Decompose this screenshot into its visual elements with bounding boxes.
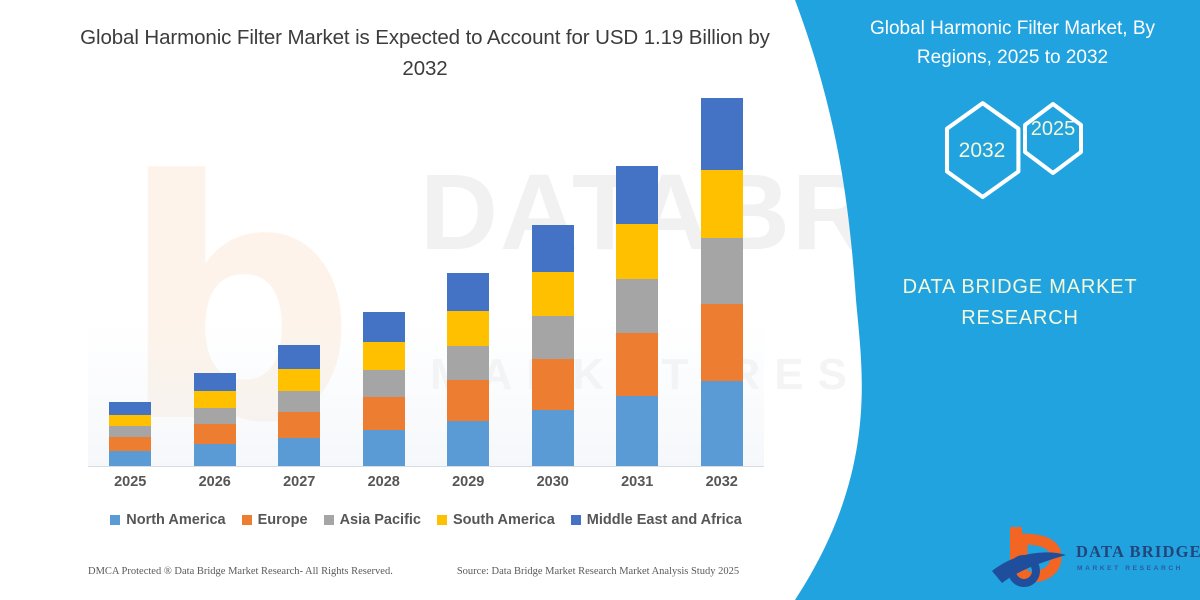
bar-segment [447,380,489,421]
stacked-bar-2029 [447,273,489,466]
bar-segment [109,437,151,451]
footer-copyright: DMCA Protected ® Data Bridge Market Rese… [88,566,393,577]
hexagon-2032: 2032 [947,103,1018,197]
infographic-root: b DATABRIDGE MARKET RESEARCH Global Harm… [0,0,1200,600]
bar-segment [194,424,236,444]
brand-line-1: DATA BRIDGE MARKET [860,272,1180,303]
bar-segment [616,333,658,396]
legend-item[interactable]: Asia Pacific [324,512,421,528]
x-axis-tick: 2029 [426,474,511,490]
stacked-bar-2027 [278,345,320,466]
bar-segment [278,345,320,369]
bar-segment [532,410,574,466]
bar-segment [109,426,151,437]
bar-segment [447,346,489,380]
bar-segment [701,98,743,170]
legend-swatch-icon [571,515,581,525]
bar-segment [278,391,320,412]
x-axis-tick: 2031 [595,474,680,490]
right-panel: Global Harmonic Filter Market, By Region… [800,0,1200,600]
bar-segment [447,421,489,466]
bar-column [88,140,173,466]
bar-segment [194,408,236,424]
logo-subtitle: MARKET RESEARCH [1077,565,1183,572]
bar-segment [532,359,574,410]
legend-label: Middle East and Africa [587,512,742,528]
bar-segment [616,396,658,466]
stacked-bar-group [88,140,764,466]
x-axis-tick: 2030 [511,474,596,490]
bar-column [173,140,258,466]
legend-item[interactable]: Europe [242,512,308,528]
legend-swatch-icon [324,515,334,525]
bar-segment [109,415,151,426]
bar-column [426,140,511,466]
bar-segment [701,170,743,238]
chart-panel: b DATABRIDGE MARKET RESEARCH Global Harm… [0,0,800,600]
x-axis-labels: 20252026202720282029203020312032 [88,474,764,490]
bar-segment [616,224,658,279]
hexagon-2025-label: 2025 [1031,118,1076,140]
bar-segment [447,273,489,311]
panel-title: Global Harmonic Filter Market, By Region… [840,14,1185,72]
bar-segment [278,438,320,466]
bar-column [342,140,427,466]
stacked-bar-2026 [194,373,236,466]
legend-label: Asia Pacific [340,512,421,528]
legend-item[interactable]: South America [437,512,555,528]
bar-segment [532,316,574,359]
bar-column [257,140,342,466]
stacked-bar-2032 [701,98,743,466]
legend-label: South America [453,512,555,528]
bar-segment [194,391,236,408]
x-axis-tick: 2028 [342,474,427,490]
legend-label: Europe [258,512,308,528]
bar-segment [278,369,320,391]
bar-segment [701,381,743,466]
bar-segment [363,312,405,342]
legend-swatch-icon [437,515,447,525]
bar-column [680,140,765,466]
x-axis-tick: 2027 [257,474,342,490]
x-axis-line [88,466,764,467]
bar-segment [363,342,405,370]
logo-title: DATA BRIDGE [1076,542,1200,561]
stacked-bar-2025 [109,402,151,466]
x-axis-tick: 2032 [680,474,765,490]
x-axis-tick: 2025 [88,474,173,490]
stacked-bar-2031 [616,166,658,466]
legend-item[interactable]: North America [110,512,225,528]
brand-line-2: RESEARCH [860,303,1180,334]
bar-segment [616,279,658,333]
x-axis-tick: 2026 [173,474,258,490]
logo-container: DATA BRIDGE MARKET RESEARCH [980,515,1200,600]
bar-segment [363,370,405,397]
stacked-bar-2030 [532,225,574,466]
bar-segment [701,304,743,381]
bar-segment [278,412,320,438]
legend-swatch-icon [242,515,252,525]
bar-column [595,140,680,466]
chart-legend: North AmericaEuropeAsia PacificSouth Ame… [88,512,764,528]
bar-segment [194,444,236,466]
hexagon-2025: 2025 [1025,104,1081,173]
legend-label: North America [126,512,225,528]
bar-segment [701,238,743,304]
bar-segment [194,373,236,391]
legend-item[interactable]: Middle East and Africa [571,512,742,528]
footer: DMCA Protected ® Data Bridge Market Rese… [88,566,778,577]
bar-segment [532,225,574,272]
footer-source: Source: Data Bridge Market Research Mark… [457,566,739,577]
legend-swatch-icon [110,515,120,525]
data-bridge-logo: DATA BRIDGE MARKET RESEARCH [980,515,1200,600]
bar-segment [363,430,405,466]
hexagon-group: 2032 2025 [800,95,1200,245]
hexagon-2032-label: 2032 [959,139,1006,162]
chart-title: Global Harmonic Filter Market is Expecte… [60,22,790,84]
bar-segment [447,311,489,346]
brand-text: DATA BRIDGE MARKET RESEARCH [860,272,1180,334]
bar-segment [109,402,151,415]
bar-segment [616,166,658,224]
bar-segment [363,397,405,430]
bar-segment [532,272,574,316]
stacked-bar-2028 [363,312,405,466]
bar-segment [109,451,151,466]
bar-column [511,140,596,466]
